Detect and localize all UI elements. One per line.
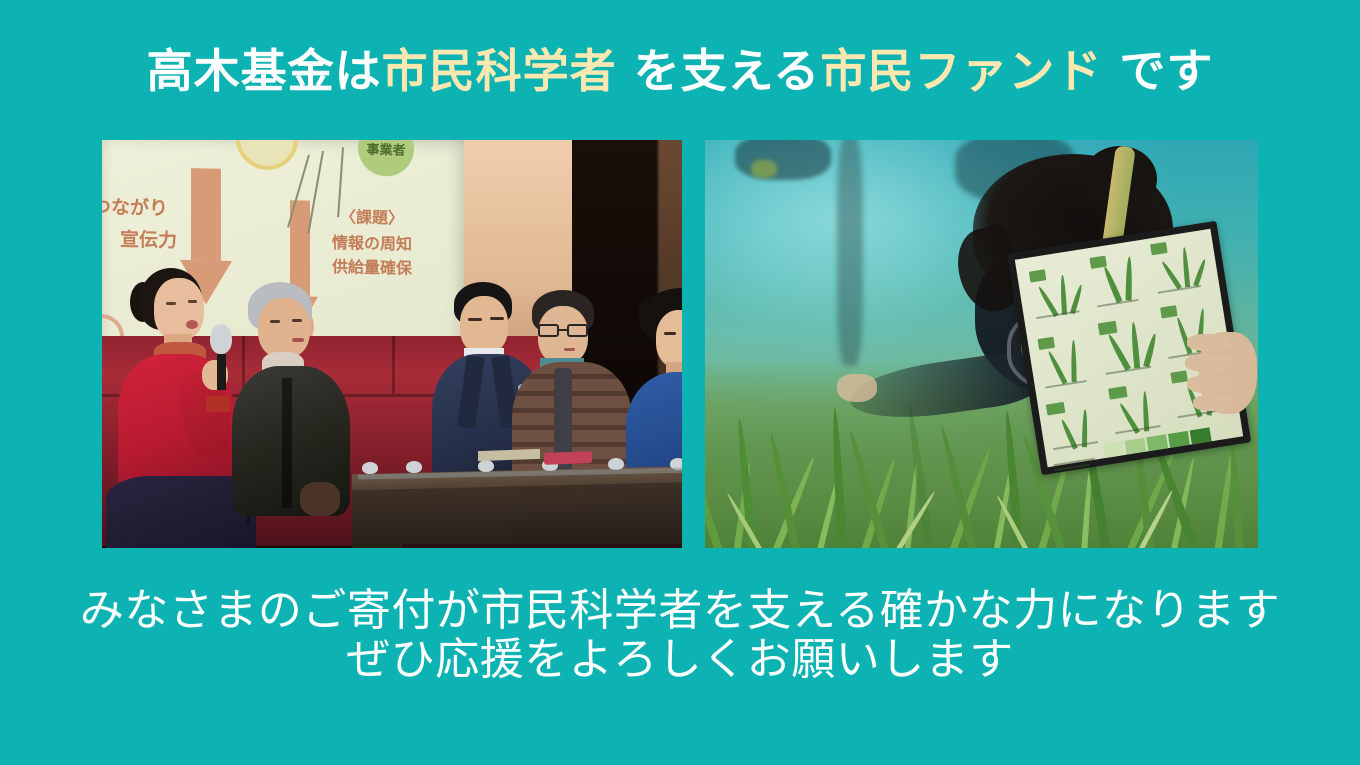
underwater-seagrass-photo — [705, 140, 1258, 548]
slide-badge-business: 事業者 — [358, 140, 414, 177]
diver-gripping-hand — [1193, 326, 1258, 422]
background-diver — [735, 140, 831, 180]
desk-microphone-row — [358, 458, 682, 484]
page-title: 高木基金は市民科学者 を支える市民ファンド です — [0, 44, 1360, 99]
background-diver-fin — [751, 160, 777, 178]
handheld-microphone — [210, 324, 232, 390]
title-segment-1: 高木基金は — [147, 44, 382, 98]
title-segment-3: を支える — [617, 44, 821, 98]
slide-root: 高木基金は市民科学者 を支える市民ファンド です 事業者 — [0, 0, 1360, 765]
panel-table-front — [352, 482, 682, 548]
slide-text-joho: 情報の周知 — [332, 229, 412, 255]
stage-drape — [402, 544, 682, 548]
title-segment-2: 市民科学者 — [382, 44, 617, 98]
title-segment-4: 市民ファンド — [820, 44, 1102, 98]
caption-line-1: みなさまのご寄付が市民科学者を支える確かな力になります — [0, 586, 1360, 635]
title-segment-5: です — [1102, 44, 1213, 98]
slide-text-senden: 宣伝力 — [120, 225, 177, 253]
donation-caption: みなさまのご寄付が市民科学者を支える確かな力になります ぜひ応援をよろしくお願い… — [0, 586, 1360, 685]
slide-text-kyokyu: 供給量確保 — [332, 253, 412, 279]
caption-line-2: ぜひ応援をよろしくお願いします — [0, 635, 1360, 684]
slide-text-kadai: 〈課題〉 — [340, 203, 404, 228]
slide-text-tsunagari: つながり — [102, 192, 168, 221]
glasses-icon — [538, 324, 590, 337]
diver-hand — [837, 374, 877, 402]
table-red-object — [544, 451, 592, 465]
symposium-panel-photo: 事業者 つながり 宣伝力 〈課題〉 情報の周知 供給量確保 — [102, 140, 682, 548]
